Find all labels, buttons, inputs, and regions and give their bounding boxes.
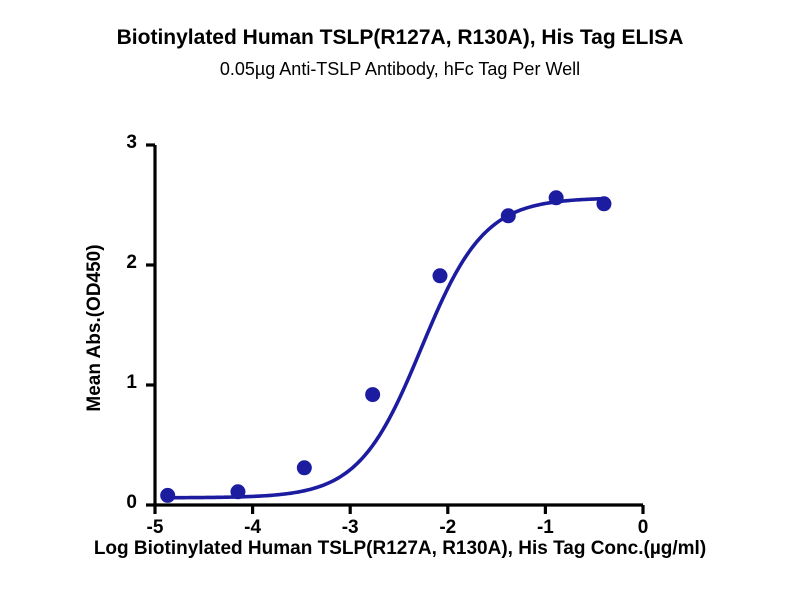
- x-tick-label: -4: [233, 517, 273, 539]
- sigmoid-fit-curve: [168, 199, 604, 498]
- x-tick-label: -2: [428, 517, 468, 539]
- data-point: [297, 460, 312, 475]
- data-point: [230, 484, 245, 499]
- x-tick-label: -1: [525, 517, 565, 539]
- data-point: [549, 190, 564, 205]
- data-point: [432, 268, 447, 283]
- data-point: [501, 208, 516, 223]
- y-tick-label: 2: [107, 252, 137, 274]
- data-point-markers: [160, 190, 611, 503]
- data-point: [365, 387, 380, 402]
- y-tick-label: 3: [107, 132, 137, 154]
- x-tick-label: -3: [330, 517, 370, 539]
- data-point: [160, 488, 175, 503]
- y-tick-label: 1: [107, 372, 137, 394]
- data-point: [596, 196, 611, 211]
- y-tick-label: 0: [107, 492, 137, 514]
- elisa-chart-figure: Biotinylated Human TSLP(R127A, R130A), H…: [0, 0, 800, 600]
- x-tick-label: 0: [623, 517, 663, 539]
- x-tick-label: -5: [135, 517, 175, 539]
